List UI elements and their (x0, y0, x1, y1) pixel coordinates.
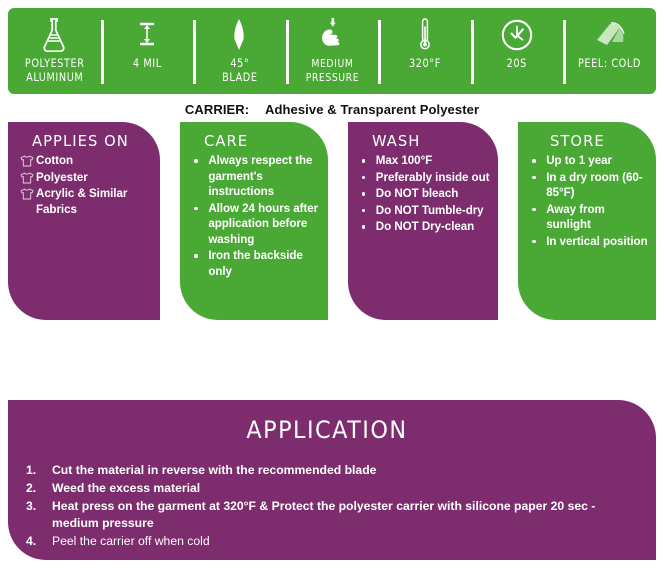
spec-item-material: PolyesterAluminum (8, 8, 101, 94)
application-step: 1. Cut the material in reverse with the … (18, 462, 636, 479)
spec-item-temperature: 320°F (378, 8, 471, 94)
list-item-text: Cotton (36, 154, 73, 167)
carrier-label: CARRIER: (185, 102, 249, 117)
list-item: Up to 1 year (528, 153, 650, 169)
spec-label-temperature: 320°F (409, 57, 441, 71)
list-item: In vertical position (528, 234, 650, 250)
application-title: Application (40, 416, 615, 444)
application-steps: 1. Cut the material in reverse with the … (18, 462, 636, 550)
spec-item-blade: 45°Blade (193, 8, 286, 94)
spec-bar: PolyesterAluminum 4 mil 45°Blade (8, 8, 656, 94)
application-step: 3. Heat press on the garment at 320°F & … (18, 498, 636, 532)
peel-icon (590, 15, 630, 55)
tshirt-icon (20, 188, 34, 205)
thermometer-icon (415, 15, 435, 55)
spec-label-pressure: Mediumpressure (305, 57, 358, 84)
card-title-store: Store (550, 132, 645, 150)
card-store: Store Up to 1 year In a dry room (60-85°… (518, 122, 656, 320)
spec-item-pressure: Mediumpressure (286, 8, 379, 94)
application-step: 2. Weed the excess material (18, 480, 636, 497)
list-item: Max 100°F (358, 153, 492, 169)
step-text: Cut the material in reverse with the rec… (52, 463, 376, 477)
card-title-care: Care (204, 132, 316, 150)
spec-label-blade: 45°Blade (222, 57, 257, 84)
step-text: Heat press on the garment at 320°F & Pro… (52, 499, 595, 530)
step-number: 4. (26, 533, 36, 550)
application-card: Application 1. Cut the material in rever… (8, 400, 656, 560)
blade-icon (227, 15, 251, 55)
spec-item-peel: Peel: Cold (563, 8, 656, 94)
card-list-wash: Max 100°F Preferably inside out Do NOT b… (358, 153, 492, 235)
card-wash: Wash Max 100°F Preferably inside out Do … (348, 122, 498, 320)
list-item: Polyester (18, 170, 154, 186)
spec-label-time: 20s (507, 57, 527, 71)
application-step: 4. Peel the carrier off when cold (18, 533, 636, 550)
carrier-line: CARRIER: Adhesive & Transparent Polyeste… (0, 102, 664, 117)
step-number: 3. (26, 498, 36, 515)
list-item: Do NOT Dry-clean (358, 219, 492, 235)
list-item-text: Acrylic & Similar Fabrics (36, 187, 127, 216)
carrier-value: Adhesive & Transparent Polyester (265, 102, 479, 117)
list-item: Cotton (18, 153, 154, 169)
list-item: Always respect the garment's instruction… (190, 153, 321, 200)
hand-pressure-icon (316, 15, 348, 55)
card-list-care: Always respect the garment's instruction… (190, 153, 321, 279)
card-title-wash: Wash (372, 132, 486, 150)
list-item-text: Polyester (36, 171, 88, 184)
spec-item-thickness: 4 mil (101, 8, 194, 94)
spec-item-time: 20s (471, 8, 564, 94)
step-text: Weed the excess material (52, 481, 200, 495)
list-item: Acrylic & Similar Fabrics (18, 186, 154, 217)
list-item: Do NOT Tumble-dry (358, 203, 492, 219)
product-spec-sheet: PolyesterAluminum 4 mil 45°Blade (0, 0, 664, 576)
step-number: 2. (26, 480, 36, 497)
list-item: Allow 24 hours after application before … (190, 201, 321, 248)
card-care: Care Always respect the garment's instru… (180, 122, 327, 320)
step-number: 1. (26, 462, 36, 479)
card-applies-on: Applies on Cotton Po (8, 122, 160, 320)
spec-label-thickness: 4 mil (132, 57, 161, 71)
list-item: In a dry room (60-85°F) (528, 170, 650, 201)
card-list-applies-on: Cotton Polyester A (18, 153, 154, 217)
card-list-store: Up to 1 year In a dry room (60-85°F) Awa… (528, 153, 650, 249)
spec-label-material: PolyesterAluminum (24, 57, 84, 84)
step-text: Peel the carrier off when cold (52, 534, 210, 548)
list-item: Preferably inside out (358, 170, 492, 186)
list-item: Iron the backside only (190, 248, 321, 279)
flask-icon (39, 15, 69, 55)
info-card-row: Applies on Cotton Po (8, 122, 656, 320)
clock-icon (499, 15, 535, 55)
spec-label-peel: Peel: Cold (578, 57, 641, 71)
list-item: Do NOT bleach (358, 186, 492, 202)
card-title-applies-on: Applies on (32, 132, 148, 150)
list-item: Away from sunlight (528, 202, 650, 233)
thickness-gauge-icon (132, 15, 162, 55)
